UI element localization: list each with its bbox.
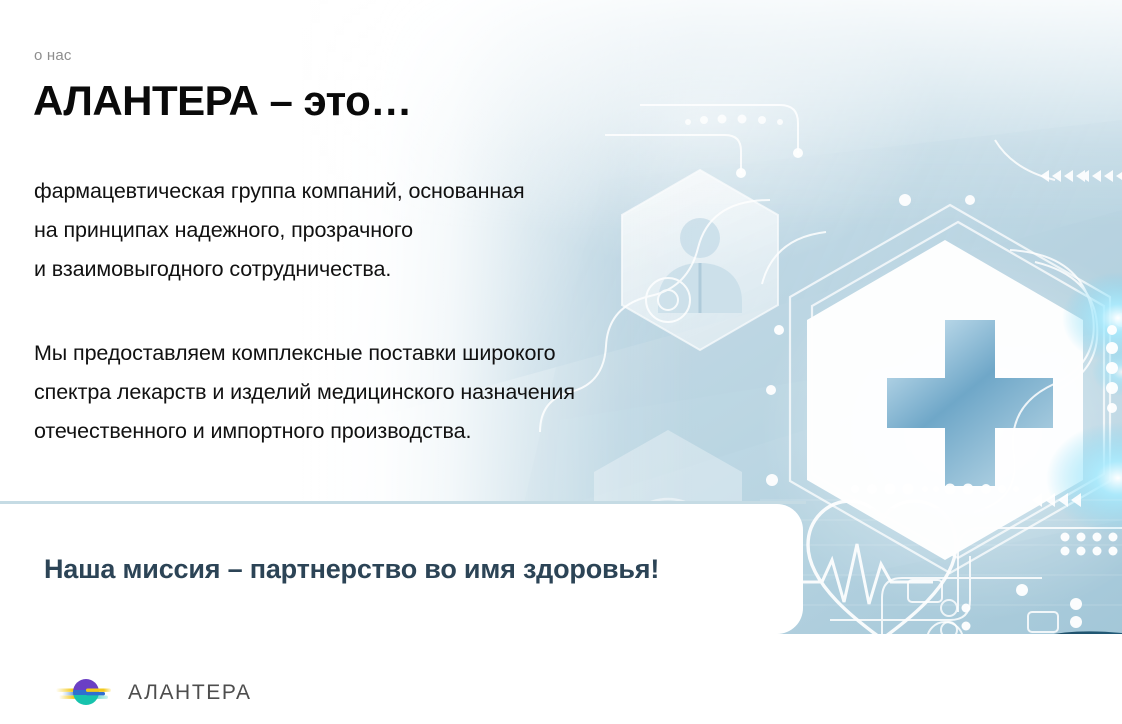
logo-wordmark: АЛАНТЕРА [128,682,252,703]
page-title: АЛАНТЕРА – это… [33,77,412,125]
mission-statement: Наша миссия – партнерство во имя здоровь… [0,554,659,585]
supply-line-3: отечественного и импортного производства… [34,412,575,451]
slide-content: о нас АЛАНТЕРА – это… фармацевтическая г… [0,0,1122,724]
slide-about-alantera: о нас АЛАНТЕРА – это… фармацевтическая г… [0,0,1122,724]
intro-line-1: фармацевтическая группа компаний, основа… [34,172,525,211]
mission-banner: Наша миссия – партнерство во имя здоровь… [0,504,803,634]
alantera-planet-logo-icon [55,672,117,712]
intro-line-3: и взаимовыгодного сотрудничества. [34,250,525,289]
intro-paragraph: фармацевтическая группа компаний, основа… [34,172,525,289]
section-eyebrow-label: о нас [34,48,72,63]
brand-logo[interactable]: АЛАНТЕРА [55,672,252,712]
supply-line-2: спектра лекарств и изделий медицинского … [34,373,575,412]
supply-paragraph: Мы предоставляем комплексные поставки ши… [34,334,575,451]
intro-line-2: на принципах надежного, прозрачного [34,211,525,250]
supply-line-1: Мы предоставляем комплексные поставки ши… [34,334,575,373]
